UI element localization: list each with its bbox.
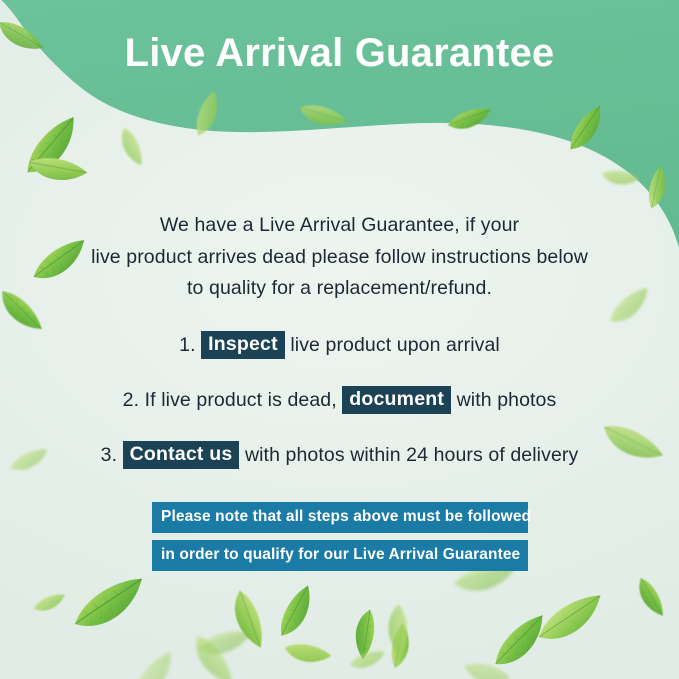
step-3-number: 3. bbox=[101, 444, 117, 466]
page-title: Live Arrival Guarantee bbox=[0, 31, 679, 75]
step-1-text: live product upon arrival bbox=[290, 334, 500, 356]
step-2-text: with photos bbox=[457, 389, 557, 411]
live-arrival-guarantee-poster: Live Arrival Guarantee We have a Live Ar… bbox=[0, 0, 679, 679]
step-3-highlight: Contact us bbox=[123, 441, 240, 468]
note-banner: Please note that all steps above must be… bbox=[152, 502, 528, 571]
intro-line-2: live product arrives dead please follow … bbox=[50, 242, 629, 274]
step-1-number: 1. bbox=[179, 334, 195, 356]
step-3-text: with photos within 24 hours of delivery bbox=[245, 444, 578, 466]
poster-content: Live Arrival Guarantee We have a Live Ar… bbox=[0, 0, 679, 679]
step-3: 3. Contact us with photos within 24 hour… bbox=[0, 428, 679, 483]
intro-paragraph: We have a Live Arrival Guarantee, if you… bbox=[50, 210, 629, 305]
step-2-number: 2. bbox=[123, 389, 139, 411]
step-1-highlight: Inspect bbox=[201, 331, 285, 358]
intro-line-3: to quality for a replacement/refund. bbox=[50, 273, 629, 305]
note-line-1: Please note that all steps above must be… bbox=[152, 502, 528, 533]
intro-line-1: We have a Live Arrival Guarantee, if you… bbox=[50, 210, 629, 242]
note-line-2: in order to qualify for our Live Arrival… bbox=[152, 540, 528, 571]
step-2: 2. If live product is dead, document wit… bbox=[0, 373, 679, 428]
step-2-highlight: document bbox=[342, 386, 451, 413]
steps-list: 1. Inspect live product upon arrival 2. … bbox=[0, 318, 679, 483]
step-1: 1. Inspect live product upon arrival bbox=[0, 318, 679, 373]
step-2-pre-text: If live product is dead, bbox=[145, 389, 337, 411]
